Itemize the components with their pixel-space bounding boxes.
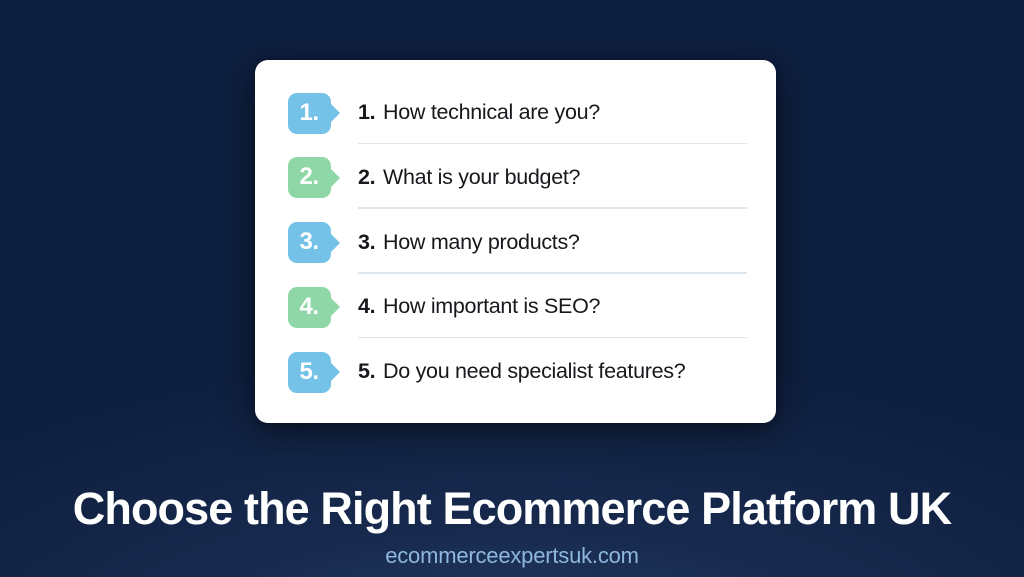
list-item: 5. 5. Do you need specialist features? — [288, 347, 742, 397]
row-divider — [358, 143, 747, 144]
item-index: 3. — [358, 230, 375, 254]
badge-number: 1. — [299, 101, 318, 125]
item-badge-5: 5. — [288, 352, 331, 393]
item-index: 5. — [358, 359, 375, 383]
checklist-card: 1. 1. How technical are you? 2. 2. What … — [255, 60, 776, 423]
item-question: How important is SEO? — [383, 294, 600, 318]
item-badge-1: 1. — [288, 93, 331, 134]
row-divider — [358, 207, 747, 208]
footer: Choose the Right Ecommerce Platform UK e… — [0, 485, 1024, 569]
item-text: 5. Do you need specialist features? — [358, 360, 685, 384]
site-url: ecommerceexpertsuk.com — [0, 543, 1024, 569]
item-badge-4: 4. — [288, 287, 331, 328]
badge-number: 4. — [299, 295, 318, 319]
item-question: How technical are you? — [383, 100, 600, 124]
item-text: 2. What is your budget? — [358, 166, 580, 190]
list-item: 2. 2. What is your budget? — [288, 153, 742, 203]
item-index: 1. — [358, 100, 375, 124]
list-item: 1. 1. How technical are you? — [288, 88, 742, 138]
item-text: 4. How important is SEO? — [358, 295, 600, 319]
row-divider — [358, 272, 747, 273]
item-text: 1. How technical are you? — [358, 101, 600, 125]
badge-number: 2. — [299, 165, 318, 189]
list-item: 4. 4. How important is SEO? — [288, 282, 742, 332]
item-text: 3. How many products? — [358, 231, 580, 255]
row-divider — [358, 337, 747, 338]
item-badge-3: 3. — [288, 222, 331, 263]
item-question: How many products? — [383, 230, 580, 254]
item-index: 4. — [358, 294, 375, 318]
badge-number: 3. — [299, 230, 318, 254]
item-badge-2: 2. — [288, 157, 331, 198]
item-question: What is your budget? — [383, 165, 580, 189]
item-question: Do you need specialist features? — [383, 359, 685, 383]
list-item: 3. 3. How many products? — [288, 218, 742, 268]
item-index: 2. — [358, 165, 375, 189]
page-title: Choose the Right Ecommerce Platform UK — [0, 485, 1024, 532]
badge-number: 5. — [299, 360, 318, 384]
